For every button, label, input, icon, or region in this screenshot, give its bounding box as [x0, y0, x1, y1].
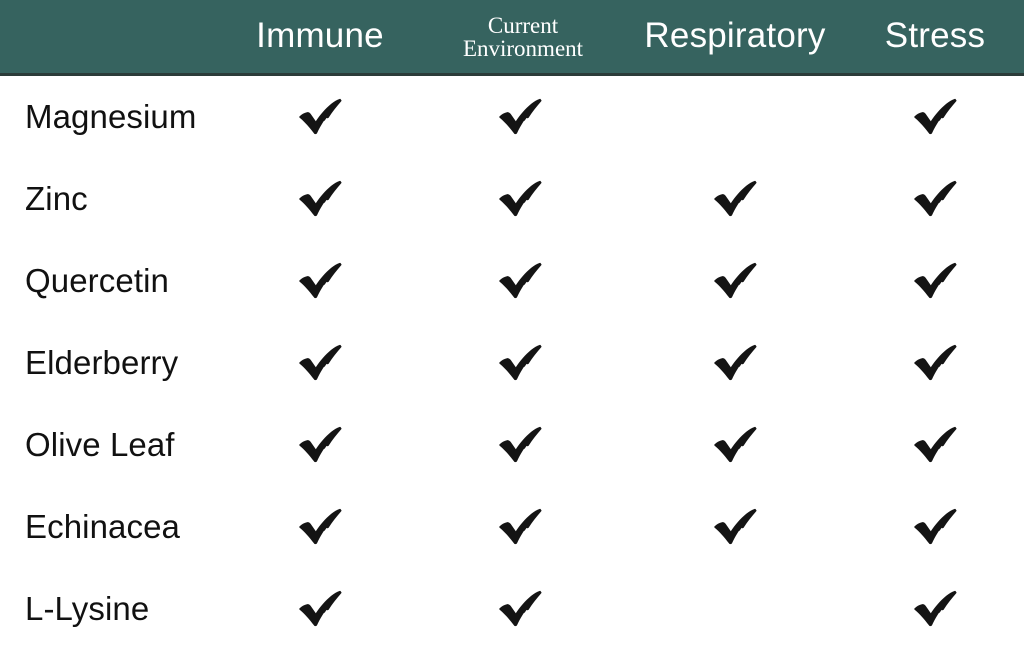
check-mark-icon	[912, 261, 958, 301]
cell-stress	[875, 158, 995, 240]
column-header-respiratory: Respiratory	[618, 0, 852, 73]
cell-immune	[260, 486, 380, 568]
column-header-respiratory-label: Respiratory	[644, 18, 825, 55]
check-mark-icon	[297, 343, 343, 383]
row-label: Quercetin	[25, 240, 169, 322]
table-row: Echinacea	[0, 486, 1024, 568]
cell-empty	[712, 97, 758, 137]
column-header-current-environment-label: Current Environment	[463, 14, 583, 60]
check-mark-icon	[912, 507, 958, 547]
check-mark-icon	[297, 179, 343, 219]
cell-immune	[260, 404, 380, 486]
cell-respiratory	[675, 404, 795, 486]
check-mark-icon	[712, 425, 758, 465]
cell-environment	[460, 486, 580, 568]
column-header-stress: Stress	[856, 0, 1014, 73]
cell-stress	[875, 76, 995, 158]
row-label: Zinc	[25, 158, 88, 240]
cell-stress	[875, 240, 995, 322]
check-mark-icon	[297, 425, 343, 465]
row-label: Elderberry	[25, 322, 178, 404]
table-row: Olive Leaf	[0, 404, 1024, 486]
cell-respiratory	[675, 322, 795, 404]
check-mark-icon	[297, 97, 343, 137]
cell-stress	[875, 568, 995, 650]
check-mark-icon	[497, 425, 543, 465]
check-mark-icon	[912, 179, 958, 219]
check-mark-icon	[912, 343, 958, 383]
cell-immune	[260, 158, 380, 240]
check-mark-icon	[912, 589, 958, 629]
supplement-benefit-comparison-table: Immune Current Environment Respiratory S…	[0, 0, 1024, 634]
row-label: Echinacea	[25, 486, 180, 568]
column-header-current-environment: Current Environment	[433, 0, 613, 73]
check-mark-icon	[497, 589, 543, 629]
row-label: Olive Leaf	[25, 404, 175, 486]
check-mark-icon	[712, 343, 758, 383]
table-row: Quercetin	[0, 240, 1024, 322]
row-label: Magnesium	[25, 76, 196, 158]
cell-respiratory	[675, 568, 795, 650]
table-row: Magnesium	[0, 76, 1024, 158]
cell-immune	[260, 240, 380, 322]
cell-environment	[460, 76, 580, 158]
cell-stress	[875, 404, 995, 486]
check-mark-icon	[497, 343, 543, 383]
cell-environment	[460, 158, 580, 240]
check-mark-icon	[297, 507, 343, 547]
check-mark-icon	[912, 97, 958, 137]
table-body: Magnesium Zinc Quercetin Elderberry Oli	[0, 76, 1024, 634]
column-header-immune-label: Immune	[256, 18, 384, 55]
check-mark-icon	[497, 507, 543, 547]
cell-respiratory	[675, 240, 795, 322]
check-mark-icon	[497, 179, 543, 219]
cell-respiratory	[675, 486, 795, 568]
column-header-stress-label: Stress	[885, 18, 985, 55]
check-mark-icon	[712, 507, 758, 547]
cell-stress	[875, 486, 995, 568]
cell-empty	[712, 589, 758, 629]
table-row: Zinc	[0, 158, 1024, 240]
cell-stress	[875, 322, 995, 404]
cell-immune	[260, 568, 380, 650]
check-mark-icon	[497, 261, 543, 301]
check-mark-icon	[912, 425, 958, 465]
check-mark-icon	[297, 589, 343, 629]
check-mark-icon	[712, 261, 758, 301]
table-header-row: Immune Current Environment Respiratory S…	[0, 0, 1024, 76]
column-header-current-environment-line2: Environment	[463, 36, 583, 61]
cell-respiratory	[675, 158, 795, 240]
cell-environment	[460, 240, 580, 322]
cell-immune	[260, 322, 380, 404]
cell-environment	[460, 404, 580, 486]
table-row: L-Lysine	[0, 568, 1024, 650]
cell-immune	[260, 76, 380, 158]
column-header-current-environment-line1: Current	[488, 13, 558, 38]
cell-environment	[460, 568, 580, 650]
cell-respiratory	[675, 76, 795, 158]
column-header-immune: Immune	[210, 0, 430, 73]
check-mark-icon	[497, 97, 543, 137]
table-row: Elderberry	[0, 322, 1024, 404]
check-mark-icon	[297, 261, 343, 301]
row-label: L-Lysine	[25, 568, 149, 650]
check-mark-icon	[712, 179, 758, 219]
cell-environment	[460, 322, 580, 404]
